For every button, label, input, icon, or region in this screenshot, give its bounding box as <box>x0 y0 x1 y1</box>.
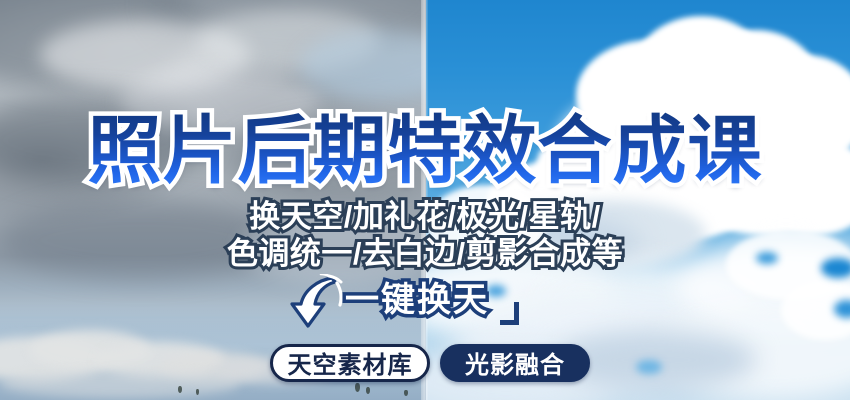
banner-text-layer: 照片后期特效合成课 照片后期特效合成课 换天空/加礼花/极光/星轨/ 换天空/加… <box>0 0 850 400</box>
callout-text: 一键换天 <box>345 280 515 320</box>
sky-replacement-course-banner: 照片后期特效合成课 照片后期特效合成课 换天空/加礼花/极光/星轨/ 换天空/加… <box>0 0 850 400</box>
corner-bracket-mark <box>500 302 522 326</box>
page-title: 照片后期特效合成课 <box>0 112 850 190</box>
subtitle-line-2: 色调统一/去白边/剪影合成等 <box>0 237 850 271</box>
curved-down-arrow-icon <box>288 274 350 332</box>
badge-light-shadow-blend[interactable]: 光影融合 <box>440 344 590 382</box>
subtitle-line-1: 换天空/加礼花/极光/星轨/ <box>0 200 850 234</box>
badge-sky-asset-library[interactable]: 天空素材库 <box>270 344 430 382</box>
